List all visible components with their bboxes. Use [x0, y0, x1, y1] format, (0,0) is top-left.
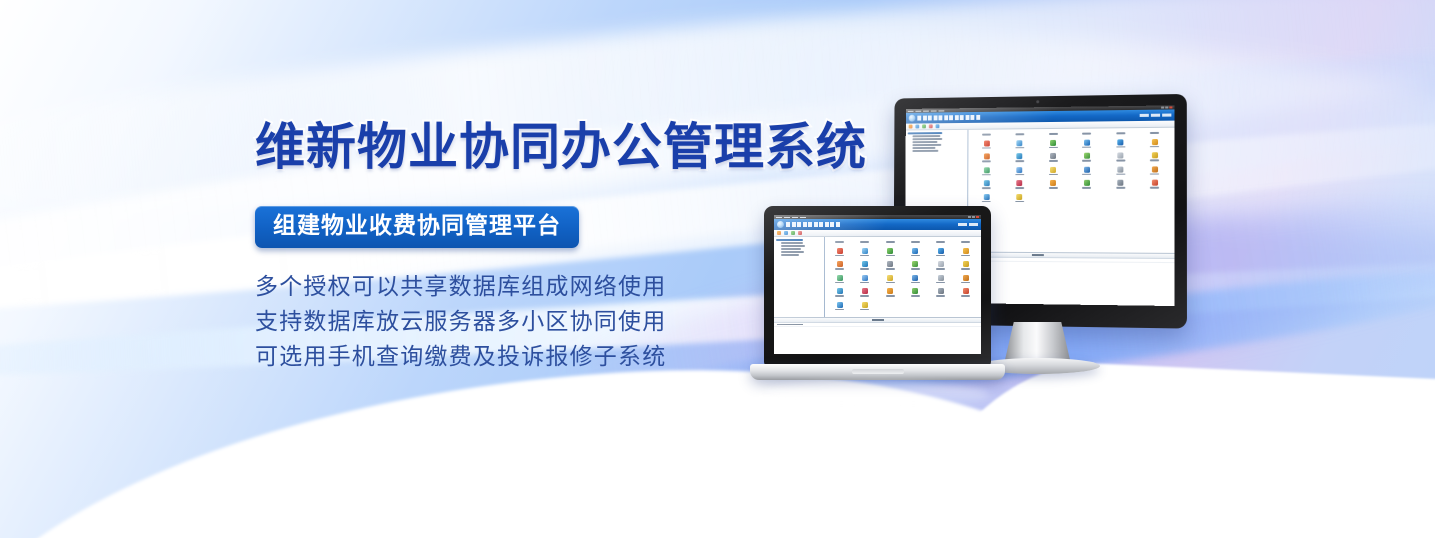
module-icon [887, 261, 893, 267]
grid-cell [854, 288, 876, 297]
grid-cell-caption [860, 241, 869, 243]
grid-cell-label [904, 240, 926, 243]
module-icon [984, 153, 990, 159]
grid-cell-caption [1049, 146, 1058, 148]
module-icon [887, 248, 893, 254]
grid-cell [904, 288, 926, 297]
module-icon [963, 288, 969, 294]
app-account-links [958, 223, 978, 226]
grid-cell-caption [860, 282, 869, 284]
grid-cell-label [930, 240, 952, 243]
grid-cell [955, 288, 977, 297]
grid-cell-caption [961, 282, 970, 284]
promo-banner: 维新物业协同办公管理系统 组建物业收费协同管理平台 多个授权可以共享数据库组成网… [0, 0, 1435, 538]
toolbar-icon [798, 231, 802, 235]
grid-cell [955, 261, 977, 270]
grid-cell [1038, 153, 1068, 162]
module-icon [984, 140, 990, 146]
tree-node [781, 242, 803, 244]
tree-node [776, 239, 803, 241]
minimize-icon [1161, 107, 1164, 109]
app-tree-sidebar [774, 237, 825, 317]
grid-cell [1105, 166, 1136, 175]
module-icon [1017, 140, 1023, 146]
tree-node [908, 132, 942, 134]
module-icon [938, 288, 944, 294]
nav-item [960, 115, 964, 120]
module-icon [984, 167, 990, 173]
module-icon [1050, 153, 1056, 159]
grid-cell [904, 275, 926, 284]
monitor-stand-neck [1005, 322, 1071, 362]
grid-cell-caption [860, 309, 869, 311]
module-icon [1084, 153, 1090, 159]
grid-cell [854, 248, 876, 257]
grid-cell-caption [911, 282, 920, 284]
module-icon [837, 261, 843, 267]
toolbar-icon [922, 124, 926, 128]
nav-item [814, 222, 818, 227]
nav-item [836, 222, 840, 227]
grid-cell-caption [835, 255, 844, 257]
grid-cell [1038, 139, 1068, 148]
app-logo-icon [909, 115, 916, 122]
grid-cell-caption [961, 295, 970, 297]
module-icon [1017, 194, 1023, 200]
webcam-icon [1036, 100, 1039, 103]
maximize-icon [972, 216, 975, 218]
nav-item [938, 115, 942, 120]
grid-cell-label [955, 240, 977, 243]
module-icon [1084, 139, 1090, 145]
grid-cell-label [854, 240, 876, 243]
grid-cell-caption [1049, 160, 1058, 162]
grid-cell-caption [936, 295, 945, 297]
tree-node [912, 135, 940, 137]
grid-cell-caption [1116, 160, 1125, 162]
module-icon [1017, 153, 1023, 159]
module-icon [1152, 166, 1158, 172]
grid-cell-caption [860, 295, 869, 297]
app-account-links [1140, 114, 1172, 117]
laptop-screen [774, 215, 981, 354]
module-icon [1117, 180, 1123, 186]
module-icon [1017, 180, 1023, 186]
account-link [1162, 114, 1171, 117]
module-icon [862, 261, 868, 267]
nav-item [917, 116, 921, 121]
grid-cell-caption [1082, 133, 1091, 135]
module-icon [1017, 167, 1023, 173]
grid-cell-caption [886, 282, 895, 284]
grid-cell-caption [982, 187, 991, 189]
menu-item [792, 217, 798, 218]
grid-cell [1105, 152, 1136, 161]
window-controls [968, 216, 979, 218]
menu-item [800, 217, 806, 218]
tree-node [781, 248, 801, 250]
module-icon [912, 288, 918, 294]
grid-cell-caption [911, 255, 920, 257]
module-icon [912, 275, 918, 281]
grid-cell-caption [886, 255, 895, 257]
list-item [774, 323, 981, 327]
grid-cell-caption [835, 309, 844, 311]
laptop-reflection [766, 382, 989, 408]
module-icon [1084, 180, 1090, 186]
grid-cell-caption [961, 241, 970, 243]
module-icon [1050, 180, 1056, 186]
tree-node [912, 144, 941, 146]
grid-cell [1139, 152, 1170, 161]
grid-cell-caption [982, 134, 991, 136]
account-link [1151, 114, 1160, 117]
grid-cell-caption [1116, 173, 1125, 175]
window-controls [1161, 106, 1172, 108]
module-icon [887, 288, 893, 294]
account-link [969, 223, 978, 226]
close-icon [976, 216, 979, 218]
module-icon [862, 288, 868, 294]
app-bottom-list [774, 317, 981, 354]
tree-node [781, 251, 804, 253]
menu-item [939, 110, 945, 111]
module-icon [1152, 152, 1158, 158]
toolbar-icon [909, 125, 913, 129]
grid-cell [854, 275, 876, 284]
grid-cell [879, 288, 901, 297]
nav-item [808, 222, 812, 227]
grid-cell [1071, 139, 1102, 148]
toolbar-icon [791, 231, 795, 235]
grid-cell [829, 261, 851, 270]
grid-cell-caption [1049, 173, 1058, 175]
grid-cell-caption [936, 282, 945, 284]
module-icon [912, 261, 918, 267]
grid-cell [829, 248, 851, 257]
nav-item [944, 115, 948, 120]
grid-cell-caption [911, 241, 920, 243]
grid-cell-label [1038, 132, 1068, 135]
grid-cell [972, 140, 1002, 149]
toolbar-icon [929, 124, 933, 128]
grid-cell [930, 275, 952, 284]
grid-cell [972, 180, 1002, 189]
grid-cell-caption [961, 268, 970, 270]
grid-cell [1038, 180, 1068, 189]
module-icon [862, 302, 868, 308]
grid-cell-caption [1150, 132, 1159, 134]
tree-node [912, 150, 938, 152]
nav-item [949, 115, 953, 120]
maximize-icon [1165, 106, 1168, 108]
grid-cell [1139, 138, 1170, 147]
menu-item [784, 217, 790, 218]
grid-cell [1071, 166, 1102, 175]
grid-cell-caption [1015, 174, 1024, 176]
grid-cell-label [1005, 132, 1035, 135]
grid-cell-caption [835, 282, 844, 284]
grid-cell [1071, 180, 1102, 189]
close-icon [1169, 106, 1172, 108]
grid-cell-caption [1082, 187, 1091, 189]
grid-cell-caption [1082, 173, 1091, 175]
grid-cell-caption [982, 160, 991, 162]
grid-cell-caption [1150, 159, 1159, 161]
module-icon [984, 194, 990, 200]
grid-cell-caption [1082, 160, 1091, 162]
grid-cell [1071, 153, 1102, 162]
list-header-label [1031, 254, 1043, 256]
app-nav [917, 115, 979, 121]
module-icon [963, 261, 969, 267]
module-icon [1050, 166, 1056, 172]
grid-cell-label [879, 240, 901, 243]
grid-cell [829, 302, 851, 311]
toolbar-icon [784, 231, 788, 235]
grid-cell-caption [1048, 187, 1057, 189]
grid-cell-caption [1116, 132, 1125, 134]
grid-cell [955, 275, 977, 284]
grid-cell-caption [982, 147, 991, 149]
grid-cell [829, 275, 851, 284]
grid-cell-caption [1015, 201, 1024, 203]
nav-item [928, 115, 932, 120]
tree-node [781, 254, 799, 256]
list-cell [777, 324, 803, 326]
module-icon [887, 275, 893, 281]
grid-cell [879, 261, 901, 270]
grid-cell-caption [860, 268, 869, 270]
grid-cell [930, 248, 952, 257]
grid-cell-caption [1015, 187, 1024, 189]
grid-cell [1139, 166, 1170, 175]
grid-cell-caption [835, 295, 844, 297]
app-logo-icon [777, 221, 784, 228]
nav-item [797, 222, 801, 227]
grid-cell-caption [886, 295, 895, 297]
grid-cell [1139, 180, 1170, 189]
app-title-bar [774, 219, 981, 230]
grid-cell-caption [1015, 147, 1024, 149]
tree-node [912, 141, 937, 143]
grid-cell [904, 248, 926, 257]
tagline-badge: 组建物业收费协同管理平台 [255, 206, 579, 248]
grid-cell [972, 194, 1002, 202]
grid-cell-caption [911, 268, 920, 270]
module-icon [837, 248, 843, 254]
grid-cell [1038, 166, 1068, 175]
grid-cell-caption [886, 268, 895, 270]
grid-cell-caption [1049, 133, 1058, 135]
nav-item [825, 222, 829, 227]
module-icon [1117, 152, 1123, 158]
module-icon [912, 248, 918, 254]
grid-cell-label [1071, 131, 1102, 134]
grid-cell-caption [835, 268, 844, 270]
grid-cell-label [1139, 131, 1170, 134]
grid-cell-caption [1015, 133, 1024, 135]
grid-cell-caption [860, 255, 869, 257]
grid-cell-caption [1150, 146, 1159, 148]
grid-cell-caption [982, 174, 991, 176]
nav-item [954, 115, 958, 120]
app-nav [786, 222, 840, 227]
grid-cell-caption [1082, 146, 1091, 148]
app-icon-grid [825, 237, 981, 317]
module-icon [1084, 166, 1090, 172]
nav-item [803, 222, 807, 227]
menu-item [923, 110, 929, 111]
nav-item [970, 115, 974, 120]
toolbar-icon [936, 124, 940, 128]
grid-cell-caption [911, 295, 920, 297]
module-icon [1152, 180, 1158, 186]
nav-item [923, 116, 927, 121]
grid-cell [854, 302, 876, 311]
menu-item [915, 110, 921, 111]
module-icon [1152, 139, 1158, 145]
grid-cell [972, 153, 1002, 162]
grid-cell [1005, 167, 1035, 176]
nav-item [933, 115, 937, 120]
menu-item [908, 110, 914, 111]
grid-cell [879, 248, 901, 257]
grid-cell-caption [886, 241, 895, 243]
nav-item [819, 222, 823, 227]
laptop-computer [750, 206, 1005, 391]
module-icon [862, 275, 868, 281]
grid-cell-caption [936, 255, 945, 257]
grid-cell [930, 288, 952, 297]
module-icon [1117, 166, 1123, 172]
grid-cell-caption [982, 201, 991, 202]
toolbar-icon [777, 231, 781, 235]
toolbar-icon [915, 124, 919, 128]
grid-cell-caption [936, 268, 945, 270]
module-icon [938, 248, 944, 254]
app-preview-laptop [774, 215, 981, 354]
grid-cell-caption [1015, 160, 1024, 162]
module-icon [1050, 139, 1056, 145]
grid-cell [1105, 180, 1136, 189]
minimize-icon [968, 216, 971, 218]
grid-cell-caption [1150, 173, 1159, 175]
account-link [958, 223, 967, 226]
module-icon [963, 275, 969, 281]
grid-cell [854, 261, 876, 270]
menu-item [776, 217, 782, 218]
grid-cell-caption [1150, 187, 1159, 189]
grid-cell [829, 288, 851, 297]
device-mockups [740, 96, 1260, 426]
menu-item [931, 110, 937, 111]
nav-item [830, 222, 834, 227]
tree-node [912, 138, 942, 140]
module-icon [938, 275, 944, 281]
grid-cell-label [972, 132, 1002, 135]
module-icon [837, 302, 843, 308]
module-icon [862, 248, 868, 254]
grid-cell-label [829, 240, 851, 243]
nav-item [976, 115, 980, 120]
app-body [774, 237, 981, 317]
grid-cell [972, 167, 1002, 176]
grid-cell [930, 261, 952, 270]
grid-cell [1005, 194, 1035, 203]
nav-item [786, 222, 790, 227]
grid-cell-caption [1116, 187, 1125, 189]
nav-item [965, 115, 969, 120]
tree-node [781, 245, 805, 247]
grid-cell-caption [835, 241, 844, 243]
module-icon [837, 275, 843, 281]
list-header-label [872, 319, 884, 321]
grid-cell-caption [1116, 146, 1125, 148]
grid-cell [879, 275, 901, 284]
tree-node [912, 147, 935, 149]
app-toolbar [774, 230, 981, 237]
module-icon [984, 180, 990, 186]
module-icon [938, 261, 944, 267]
grid-cell-caption [936, 241, 945, 243]
nav-item [792, 222, 796, 227]
grid-cell-caption [961, 255, 970, 257]
laptop-trackpad [852, 369, 904, 374]
grid-cell-label [1105, 131, 1136, 134]
module-icon [837, 288, 843, 294]
grid-cell [1005, 140, 1035, 149]
module-icon [1117, 139, 1123, 145]
grid-cell [955, 248, 977, 257]
grid-cell [1105, 139, 1136, 148]
module-icon [963, 248, 969, 254]
account-link [1140, 114, 1149, 117]
grid-cell [904, 261, 926, 270]
grid-cell [1005, 153, 1035, 162]
grid-cell [1005, 180, 1035, 189]
